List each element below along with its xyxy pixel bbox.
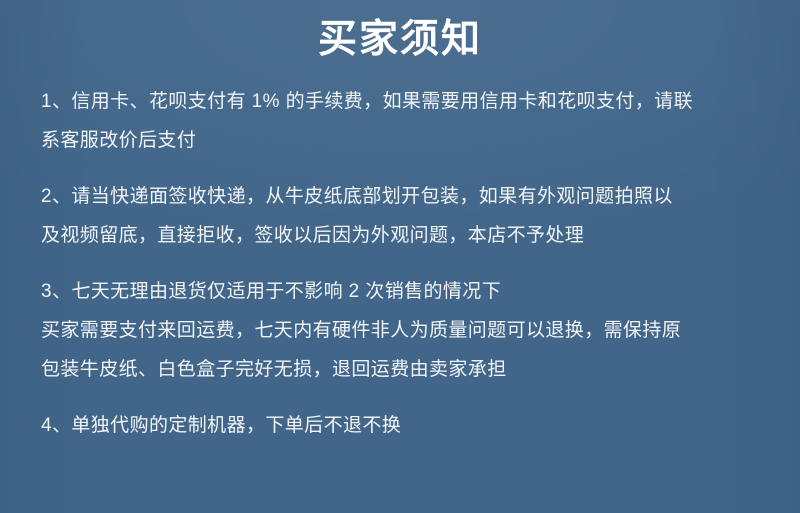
- notice-item-2-line-2: 及视频留底，直接拒收，签收以后因为外观问题，本店不予处理: [41, 216, 777, 255]
- page-title: 买家须知: [0, 14, 800, 66]
- notice-item-3-line-2: 买家需要支付来回运费，七天内有硬件非人为质量问题可以退换，需保持原: [41, 311, 777, 350]
- buyer-notice-banner: 买家须知 1、信用卡、花呗支付有 1% 的手续费，如果需要用信用卡和花呗支付，请…: [0, 0, 800, 513]
- notice-item-3: 3、七天无理由退货仅适用于不影响 2 次销售的情况下 买家需要支付来回运费，七天…: [41, 272, 777, 389]
- notice-item-1-line-1: 1、信用卡、花呗支付有 1% 的手续费，如果需要用信用卡和花呗支付，请联: [41, 82, 777, 121]
- notice-item-1: 1、信用卡、花呗支付有 1% 的手续费，如果需要用信用卡和花呗支付，请联 系客服…: [41, 82, 777, 160]
- notice-item-2-line-1: 2、请当快递面签收快递，从牛皮纸底部划开包装，如果有外观问题拍照以: [41, 177, 777, 216]
- notice-item-4: 4、单独代购的定制机器，下单后不退不换: [41, 406, 777, 445]
- notice-item-4-line-1: 4、单独代购的定制机器，下单后不退不换: [41, 406, 777, 445]
- notice-item-1-line-2: 系客服改价后支付: [41, 121, 777, 160]
- notice-item-2: 2、请当快递面签收快递，从牛皮纸底部划开包装，如果有外观问题拍照以 及视频留底，…: [41, 177, 777, 255]
- notice-item-3-line-1: 3、七天无理由退货仅适用于不影响 2 次销售的情况下: [41, 272, 777, 311]
- notice-list: 1、信用卡、花呗支付有 1% 的手续费，如果需要用信用卡和花呗支付，请联 系客服…: [41, 82, 777, 445]
- notice-item-3-line-3: 包装牛皮纸、白色盒子完好无损，退回运费由卖家承担: [41, 350, 777, 389]
